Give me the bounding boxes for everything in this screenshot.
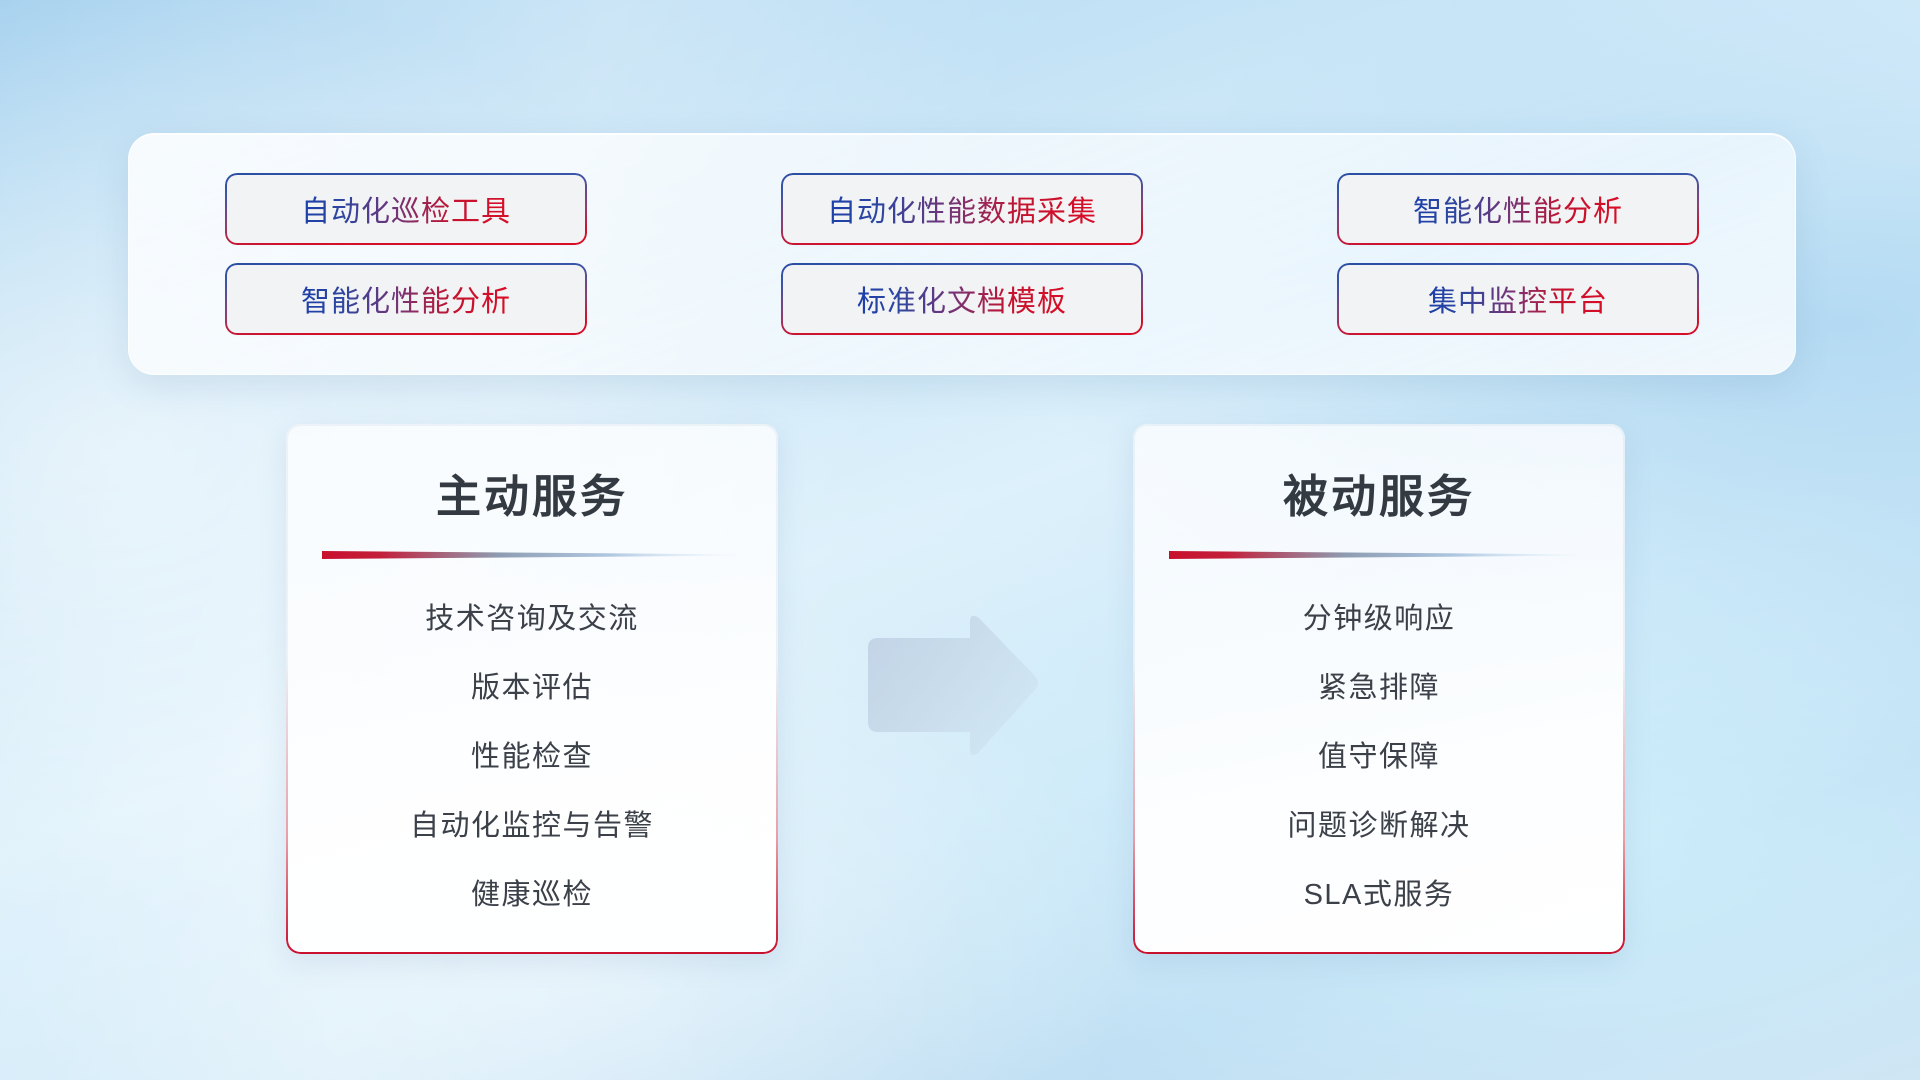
list-item: 问题诊断解决: [1287, 802, 1470, 844]
list-item: 分钟级响应: [1303, 595, 1456, 637]
capability-label: 标准化文档模板: [857, 278, 1067, 320]
service-card-title: 被动服务: [1133, 460, 1625, 525]
list-item: 健康巡检: [471, 871, 593, 913]
capability-box-1-2[interactable]: 自动化性能数据采集: [783, 175, 1141, 243]
service-item-list: 分钟级响应 紧急排障 值守保障 问题诊断解决 SLA式服务: [1133, 595, 1625, 913]
title-divider: [1169, 549, 1589, 561]
right-arrow-icon: [862, 612, 1042, 762]
capability-box-1-3[interactable]: 智能化性能分析: [1339, 175, 1697, 243]
list-item: SLA式服务: [1304, 871, 1455, 913]
list-item: 值守保障: [1318, 733, 1440, 775]
list-item: 版本评估: [471, 664, 593, 706]
title-divider: [322, 549, 742, 561]
capability-label: 自动化性能数据采集: [827, 188, 1097, 230]
list-item: 紧急排障: [1318, 664, 1440, 706]
capability-label: 智能化性能分析: [1413, 188, 1623, 230]
capability-label: 自动化巡检工具: [301, 188, 511, 230]
service-item-list: 技术咨询及交流 版本评估 性能检查 自动化监控与告警 健康巡检: [286, 595, 778, 913]
list-item: 自动化监控与告警: [410, 802, 654, 844]
capability-box-2-1[interactable]: 智能化性能分析: [227, 265, 585, 333]
capability-box-2-3[interactable]: 集中监控平台: [1339, 265, 1697, 333]
capability-row-2: 智能化性能分析 标准化文档模板 集中监控平台: [129, 265, 1795, 333]
list-item: 技术咨询及交流: [425, 595, 639, 637]
service-card-passive: 被动服务 分钟级响应 紧急排障 值守保障 问题诊断解决 SLA式服务: [1133, 424, 1625, 954]
capability-box-2-2[interactable]: 标准化文档模板: [783, 265, 1141, 333]
list-item: 性能检查: [471, 733, 593, 775]
capability-label: 集中监控平台: [1428, 278, 1608, 320]
capability-box-1-1[interactable]: 自动化巡检工具: [227, 175, 585, 243]
capability-panel: 自动化巡检工具 自动化性能数据采集 智能化性能分析 智能化性能分析 标准化文档模…: [128, 133, 1796, 375]
service-card-title: 主动服务: [286, 460, 778, 525]
service-card-active: 主动服务 技术咨询及交流 版本评估 性能检查 自动化监控与告警 健康巡检: [286, 424, 778, 954]
capability-row-1: 自动化巡检工具 自动化性能数据采集 智能化性能分析: [129, 175, 1795, 243]
capability-label: 智能化性能分析: [301, 278, 511, 320]
